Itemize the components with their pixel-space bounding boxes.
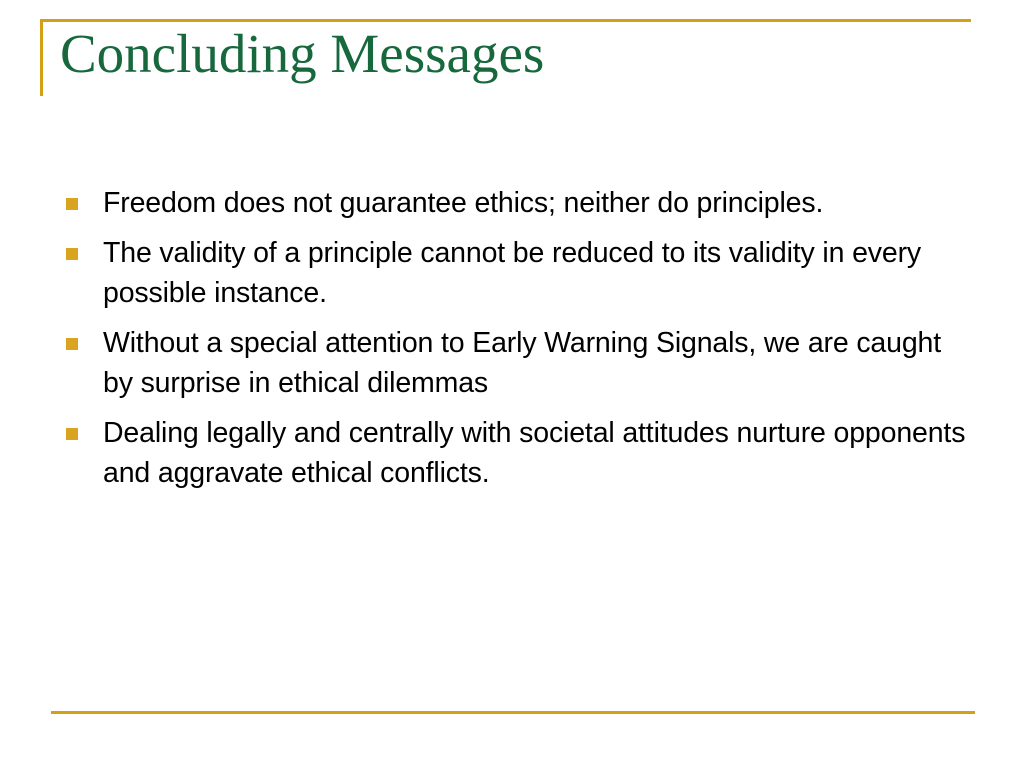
list-item-label: Dealing legally and centrally with socie…	[103, 413, 974, 493]
list-item-label: Freedom does not guarantee ethics; neith…	[103, 183, 974, 223]
list-item: Dealing legally and centrally with socie…	[62, 413, 974, 493]
bullet-square-icon	[66, 248, 78, 260]
footer-rule	[51, 711, 975, 714]
list-item: Without a special attention to Early War…	[62, 323, 974, 403]
list-item: The validity of a principle cannot be re…	[62, 233, 974, 313]
list-item: Freedom does not guarantee ethics; neith…	[62, 183, 974, 223]
list-item-label: Without a special attention to Early War…	[103, 323, 974, 403]
page-title: Concluding Messages	[60, 22, 960, 86]
bullet-list: Freedom does not guarantee ethics; neith…	[62, 183, 974, 493]
list-item-label: The validity of a principle cannot be re…	[103, 233, 974, 313]
bullet-square-icon	[66, 428, 78, 440]
title-rule-left	[40, 19, 43, 96]
bullet-square-icon	[66, 338, 78, 350]
bullet-square-icon	[66, 198, 78, 210]
slide-canvas: Concluding Messages Freedom does not gua…	[0, 0, 1024, 768]
